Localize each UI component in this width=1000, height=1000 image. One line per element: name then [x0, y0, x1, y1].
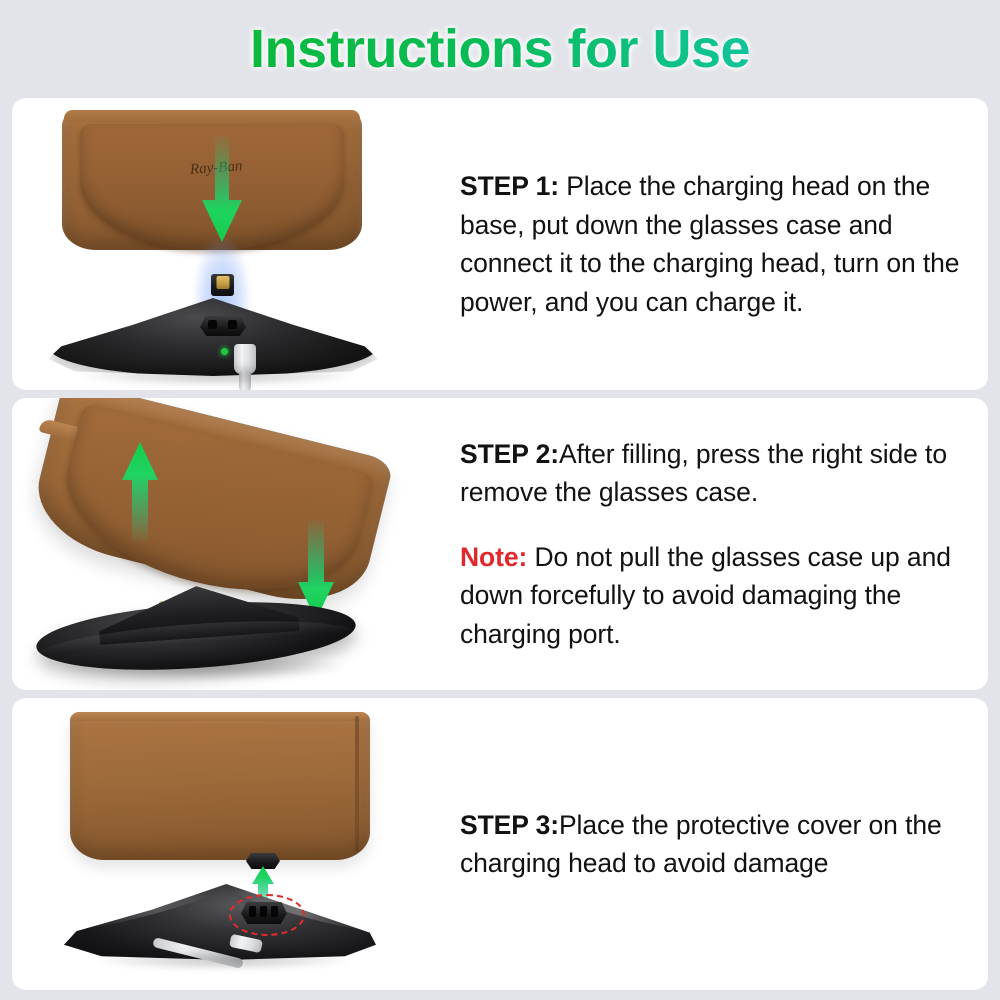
step-1-paragraph: STEP 1: Place the charging head on the b…: [460, 167, 972, 321]
step-1-figure: Ray-Ban: [12, 98, 432, 390]
step-3-text: STEP 3:Place the protective cover on the…: [432, 806, 988, 883]
page-title: Instructions for Use: [250, 18, 750, 80]
arrow-down-icon: [194, 136, 250, 246]
charging-head-gold-pin: [216, 276, 229, 289]
charging-port-highlight-ellipse: [229, 894, 305, 936]
step-1-label: STEP 1:: [460, 171, 559, 201]
base-ground-shadow: [62, 654, 342, 680]
step-card-1: Ray-Ban: [12, 98, 988, 390]
base-ground-shadow: [98, 950, 348, 970]
step-2-label: STEP 2:: [460, 439, 559, 469]
step-card-3: STEP 3:Place the protective cover on the…: [12, 698, 988, 990]
step-card-2: Ray-Ban: [12, 398, 988, 690]
power-led-indicator: [221, 348, 228, 355]
base-ground-shadow: [82, 364, 352, 386]
charging-head: [211, 274, 234, 296]
glasses-case-rear-seam: [355, 716, 359, 852]
step-2-paragraph: STEP 2:After filling, press the right si…: [460, 435, 972, 512]
step-3-label: STEP 3:: [460, 810, 559, 840]
step-2-figure: Ray-Ban: [12, 398, 432, 690]
base-charging-port: [200, 316, 246, 336]
glasses-case-rear-top-edge: [72, 712, 368, 721]
step-3-paragraph: STEP 3:Place the protective cover on the…: [460, 806, 972, 883]
header: Instructions for Use: [0, 0, 1000, 98]
step-1-text: STEP 1: Place the charging head on the b…: [432, 167, 988, 321]
step-3-figure: [12, 698, 432, 990]
step-2-text: STEP 2:After filling, press the right si…: [432, 435, 988, 654]
glasses-case-rear-body: [70, 712, 370, 860]
base-port-notch-left: [208, 320, 217, 329]
step-2-note-paragraph: Note: Do not pull the glasses case up an…: [460, 538, 972, 654]
glasses-case-lid-edge: [64, 110, 360, 122]
arrow-up-icon: [118, 442, 162, 542]
base-port-notch-right: [228, 320, 237, 329]
note-label: Note:: [460, 542, 527, 572]
note-body: Do not pull the glasses case up and down…: [460, 542, 951, 649]
